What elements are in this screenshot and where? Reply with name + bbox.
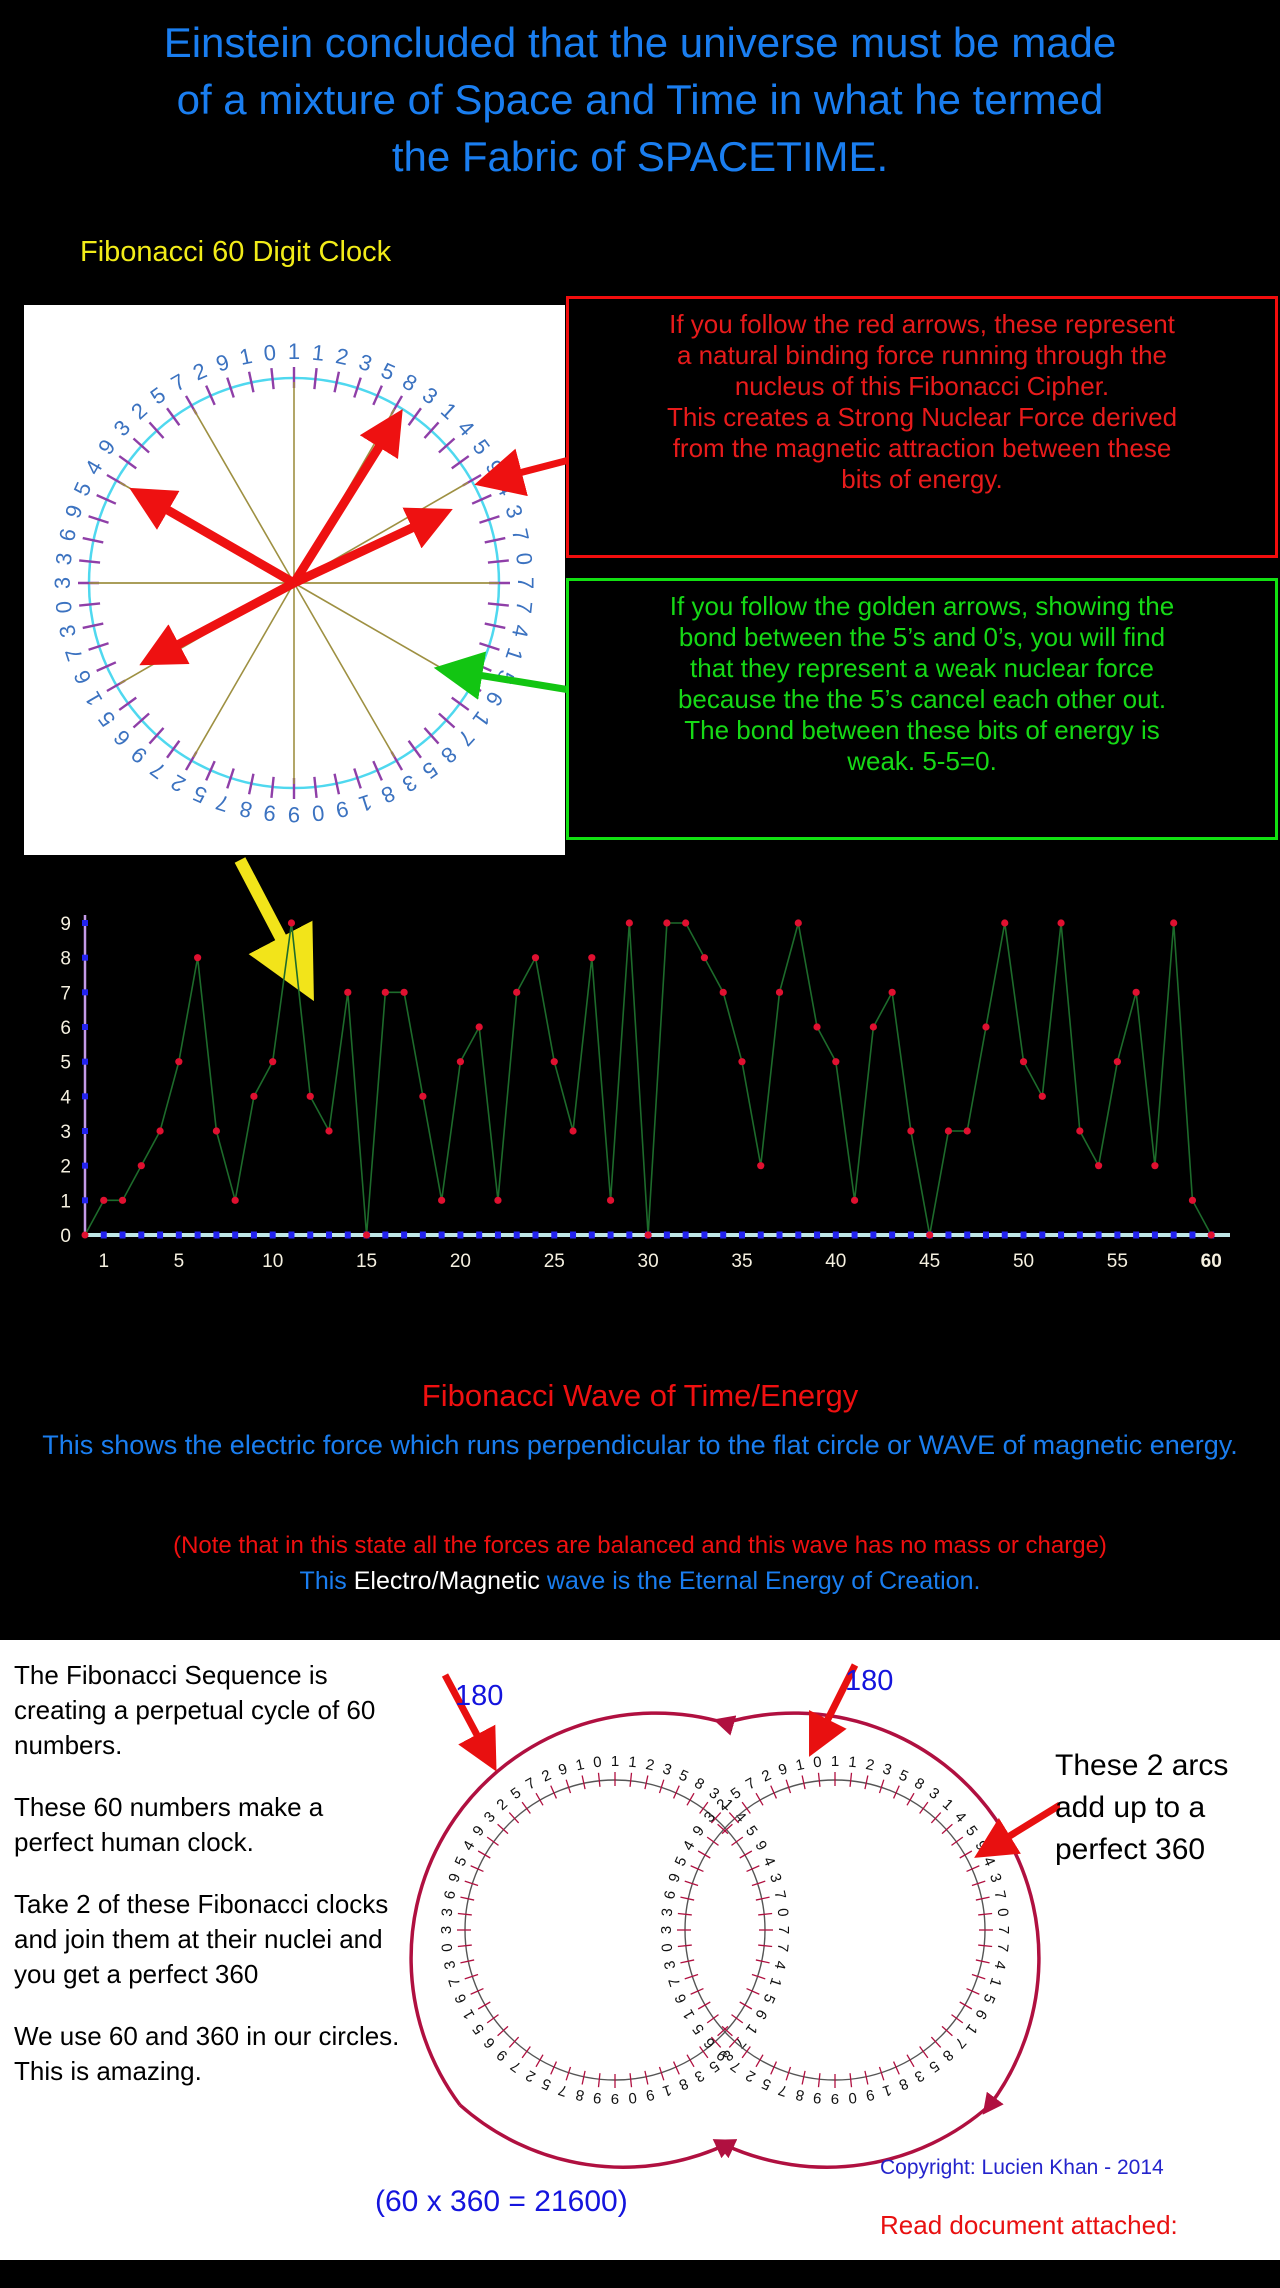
svg-text:0: 0 bbox=[628, 2089, 638, 2107]
svg-text:3: 3 bbox=[660, 1760, 673, 1779]
label-180-right: 180 bbox=[845, 1665, 893, 1698]
wave-line bbox=[104, 923, 1211, 1235]
baseline-marker bbox=[345, 1232, 351, 1239]
y-tick-label: 2 bbox=[60, 1157, 71, 1178]
x-tick-label: 15 bbox=[356, 1251, 377, 1272]
data-point bbox=[419, 1093, 426, 1100]
chart-caption-title: Fibonacci Wave of Time/Energy bbox=[0, 1378, 1280, 1414]
page-title-line-1: Einstein concluded that the universe mus… bbox=[0, 14, 1280, 71]
svg-text:6: 6 bbox=[672, 1991, 691, 2006]
baseline-marker bbox=[495, 1232, 501, 1239]
clock-digit: 9 bbox=[93, 435, 120, 460]
svg-text:4: 4 bbox=[991, 1959, 1009, 1971]
clock-digit: 4 bbox=[492, 478, 520, 499]
data-point bbox=[720, 989, 727, 996]
data-point bbox=[1133, 989, 1140, 996]
clock-digit: 2 bbox=[126, 398, 152, 425]
clock-digit: 4 bbox=[507, 623, 534, 640]
red-callout-box: If you follow the red arrows, these repr… bbox=[566, 296, 1278, 558]
svg-text:4: 4 bbox=[759, 1854, 778, 1869]
y-tick-label: 1 bbox=[60, 1191, 71, 1212]
clock-digit: 9 bbox=[60, 502, 88, 521]
baseline-marker bbox=[683, 1232, 689, 1239]
clock-digit: 3 bbox=[109, 415, 136, 441]
page-title: Einstein concluded that the universe mus… bbox=[0, 14, 1280, 185]
svg-text:1: 1 bbox=[628, 1754, 638, 1772]
svg-text:5: 5 bbox=[469, 2021, 488, 2038]
svg-text:6: 6 bbox=[751, 2006, 770, 2022]
svg-text:9: 9 bbox=[776, 1760, 789, 1779]
green-callout-line-2: bond between the 5’s and 0’s, you will f… bbox=[583, 622, 1261, 653]
clock-title: Fibonacci 60 Digit Clock bbox=[80, 236, 391, 269]
baseline-marker bbox=[138, 1232, 144, 1239]
baseline-marker bbox=[908, 1232, 914, 1239]
svg-text:8: 8 bbox=[574, 2086, 586, 2104]
baseline-marker bbox=[514, 1232, 520, 1239]
clock-digit: 1 bbox=[356, 789, 375, 817]
baseline-marker bbox=[1096, 1232, 1102, 1239]
svg-text:3: 3 bbox=[439, 1907, 457, 1917]
y-tick-label: 6 bbox=[60, 1018, 71, 1039]
clock-digit: 8 bbox=[436, 742, 462, 769]
svg-text:5: 5 bbox=[926, 2057, 943, 2076]
svg-text:9: 9 bbox=[556, 1760, 569, 1779]
svg-text:1: 1 bbox=[848, 1754, 858, 1772]
svg-text:7: 7 bbox=[665, 1975, 684, 1988]
baseline-marker bbox=[758, 1232, 764, 1239]
red-callout-line-4: This creates a Strong Nuclear Force deri… bbox=[583, 402, 1261, 433]
baseline-marker bbox=[1152, 1232, 1158, 1239]
clock-digit: 8 bbox=[237, 796, 254, 823]
clock-digit: 2 bbox=[334, 343, 351, 370]
clock-digit: 5 bbox=[377, 358, 398, 386]
baseline-marker bbox=[101, 1232, 107, 1239]
baseline-marker bbox=[270, 1232, 276, 1239]
baseline-marker bbox=[532, 1232, 538, 1239]
svg-text:9: 9 bbox=[611, 2090, 619, 2107]
svg-text:9: 9 bbox=[864, 2086, 876, 2104]
clock-digit: 9 bbox=[126, 742, 152, 769]
svg-text:9: 9 bbox=[831, 2090, 839, 2107]
clock-tick bbox=[271, 777, 273, 798]
y-tick bbox=[82, 1093, 88, 1099]
clock-tick bbox=[488, 603, 509, 605]
chart-caption-electro-magnetic: This Electro/Magnetic wave is the Eterna… bbox=[20, 1565, 1260, 1597]
clock-digit: 9 bbox=[262, 800, 277, 826]
svg-text:0: 0 bbox=[774, 1907, 792, 1917]
clock-digit: 4 bbox=[453, 415, 480, 441]
red-callout-line-3: nucleus of this Fibonacci Cipher. bbox=[583, 371, 1261, 402]
left-arc-180 bbox=[411, 1713, 725, 2105]
data-point bbox=[889, 989, 896, 996]
clock-digit: 4 bbox=[80, 456, 108, 479]
svg-text:9: 9 bbox=[592, 2089, 602, 2107]
y-tick-label: 0 bbox=[60, 1226, 71, 1247]
green-callout-line-5: The bond between these bits of energy is bbox=[583, 715, 1261, 746]
clock-digit: 0 bbox=[262, 340, 277, 366]
chart-caption-red-note: (Note that in this state all the forces … bbox=[20, 1530, 1260, 1562]
clock-tick bbox=[119, 698, 136, 710]
clock-digit: 1 bbox=[468, 707, 495, 732]
baseline-marker bbox=[664, 1232, 670, 1239]
clock-digit: 1 bbox=[500, 645, 528, 664]
svg-text:5: 5 bbox=[672, 1854, 691, 1869]
svg-text:2: 2 bbox=[523, 2066, 539, 2085]
fibonacci-wave-chart: 0123456789151015202530354045505560 bbox=[40, 905, 1240, 1305]
data-point bbox=[907, 1127, 914, 1134]
baseline-marker bbox=[1002, 1232, 1008, 1239]
clock-tick bbox=[167, 408, 179, 425]
svg-text:9: 9 bbox=[469, 1823, 488, 1840]
clock-digit: 8 bbox=[398, 369, 421, 397]
data-point bbox=[269, 1058, 276, 1065]
clock-digit: 1 bbox=[237, 343, 254, 370]
baseline-marker bbox=[251, 1232, 257, 1239]
svg-text:3: 3 bbox=[911, 2066, 927, 2085]
x-tick-label: 50 bbox=[1013, 1251, 1034, 1272]
svg-text:1: 1 bbox=[880, 2081, 893, 2100]
clock-digit: 2 bbox=[189, 358, 210, 386]
svg-text:0: 0 bbox=[439, 1943, 457, 1953]
data-point bbox=[344, 989, 351, 996]
data-point bbox=[964, 1127, 971, 1134]
svg-text:9: 9 bbox=[812, 2089, 822, 2107]
clock-digit: 9 bbox=[288, 802, 300, 827]
svg-text:2: 2 bbox=[644, 1756, 656, 1774]
clock-digit: 5 bbox=[146, 382, 171, 409]
svg-text:3: 3 bbox=[481, 1808, 499, 1826]
baseline-marker bbox=[1114, 1232, 1120, 1239]
clock-digit: 7 bbox=[167, 369, 190, 397]
y-tick-label: 5 bbox=[60, 1053, 71, 1074]
green-callout-line-4: because the the 5’s cancel each other ou… bbox=[583, 684, 1261, 715]
data-point bbox=[213, 1127, 220, 1134]
baseline-marker bbox=[176, 1232, 182, 1239]
baseline-marker bbox=[1171, 1232, 1177, 1239]
svg-text:8: 8 bbox=[939, 2046, 957, 2064]
clock-digit: 1 bbox=[288, 339, 300, 364]
svg-text:8: 8 bbox=[896, 2074, 911, 2093]
clock-tick bbox=[79, 560, 100, 562]
fibonacci-clock-panel: 1123583145943707741561785381909987527965… bbox=[24, 305, 565, 855]
bottom-paragraph-1: The Fibonacci Sequence is creating a per… bbox=[14, 1658, 404, 1763]
clock-digit: 6 bbox=[481, 687, 509, 710]
svg-text:4: 4 bbox=[771, 1959, 789, 1971]
green-callout-line-3: that they represent a weak nuclear force bbox=[583, 653, 1261, 684]
baseline-marker bbox=[551, 1232, 557, 1239]
svg-text:9: 9 bbox=[493, 2046, 511, 2064]
data-point bbox=[1114, 1058, 1121, 1065]
svg-text:9: 9 bbox=[445, 1871, 464, 1884]
svg-text:8: 8 bbox=[794, 2086, 806, 2104]
svg-text:4: 4 bbox=[979, 1854, 998, 1869]
svg-text:5: 5 bbox=[896, 1767, 911, 1786]
clock-digit: 7 bbox=[453, 725, 480, 751]
baseline-marker bbox=[195, 1232, 201, 1239]
svg-text:7: 7 bbox=[771, 1889, 789, 1901]
baseline-marker bbox=[157, 1232, 163, 1239]
chart-caption-blue: This shows the electric force which runs… bbox=[30, 1428, 1250, 1462]
clock-digit: 3 bbox=[398, 770, 421, 798]
clock-digit: 3 bbox=[418, 382, 443, 409]
bottom-paragraph-2: These 60 numbers make a perfect human cl… bbox=[14, 1790, 404, 1860]
svg-text:9: 9 bbox=[665, 1871, 684, 1884]
data-point bbox=[232, 1197, 239, 1204]
svg-text:6: 6 bbox=[661, 1889, 679, 1901]
data-point bbox=[457, 1058, 464, 1065]
read-document-text: Read document attached: bbox=[880, 2210, 1178, 2241]
data-point bbox=[795, 919, 802, 926]
svg-text:3: 3 bbox=[661, 1959, 679, 1971]
svg-text:7: 7 bbox=[775, 1926, 792, 1934]
bottom-paragraph-4: We use 60 and 360 in our circles. This i… bbox=[14, 2019, 404, 2089]
twin-clock: 1123583145943707741561785381909987527965… bbox=[658, 1753, 1012, 2107]
svg-text:3: 3 bbox=[659, 1907, 677, 1917]
svg-text:5: 5 bbox=[962, 1823, 981, 1840]
label-180-left: 180 bbox=[455, 1680, 503, 1713]
clock-digit: 3 bbox=[54, 623, 81, 640]
svg-text:3: 3 bbox=[438, 1926, 455, 1934]
caption-prefix: This bbox=[300, 1567, 354, 1595]
data-point bbox=[194, 954, 201, 961]
clock-digit: 5 bbox=[492, 666, 520, 687]
data-point bbox=[588, 954, 595, 961]
svg-text:6: 6 bbox=[452, 1991, 471, 2006]
svg-text:3: 3 bbox=[441, 1959, 459, 1971]
data-point bbox=[982, 1023, 989, 1030]
clock-digit: 9 bbox=[213, 349, 232, 377]
clock-digit: 7 bbox=[213, 789, 232, 817]
red-callout-line-5: from the magnetic attraction between the… bbox=[583, 433, 1261, 464]
clock-digit: 7 bbox=[146, 757, 171, 784]
data-point bbox=[325, 1127, 332, 1134]
baseline-marker bbox=[1189, 1232, 1195, 1239]
clock-digit: 9 bbox=[334, 796, 351, 823]
clock-digit: 5 bbox=[189, 781, 210, 809]
clock-digit: 7 bbox=[60, 645, 88, 664]
y-tick bbox=[82, 1197, 88, 1203]
equation-60x360: (60 x 360 = 21600) bbox=[375, 2185, 628, 2219]
baseline-marker bbox=[1021, 1232, 1027, 1239]
svg-text:9: 9 bbox=[644, 2086, 656, 2104]
svg-text:8: 8 bbox=[676, 2074, 691, 2093]
x-tick-label: 55 bbox=[1107, 1251, 1128, 1272]
baseline-marker bbox=[889, 1232, 895, 1239]
svg-text:2: 2 bbox=[743, 2066, 759, 2085]
caption-suffix: wave is the Eternal Energy of Creation. bbox=[540, 1567, 981, 1595]
svg-text:5: 5 bbox=[759, 2074, 774, 2093]
y-tick-label: 3 bbox=[60, 1122, 71, 1143]
svg-text:3: 3 bbox=[766, 1871, 785, 1884]
data-point bbox=[363, 1231, 370, 1238]
clock-digit: 7 bbox=[513, 577, 538, 589]
clock-digit: 7 bbox=[507, 526, 534, 543]
svg-text:9: 9 bbox=[751, 1838, 770, 1854]
y-tick-label: 4 bbox=[60, 1087, 71, 1108]
bottom-paragraph-3: Take 2 of these Fibonacci clocks and joi… bbox=[14, 1887, 404, 1992]
svg-text:3: 3 bbox=[880, 1760, 893, 1779]
svg-text:1: 1 bbox=[660, 2081, 673, 2100]
data-point bbox=[569, 1127, 576, 1134]
svg-text:7: 7 bbox=[991, 1889, 1009, 1901]
two-arcs-note: These 2 arcs add up to a perfect 360 bbox=[1055, 1745, 1280, 1871]
data-point bbox=[532, 954, 539, 961]
data-point bbox=[494, 1197, 501, 1204]
svg-text:6: 6 bbox=[481, 2034, 499, 2052]
baseline-marker bbox=[945, 1232, 951, 1239]
baseline-marker bbox=[870, 1232, 876, 1239]
svg-text:6: 6 bbox=[971, 2006, 990, 2022]
clock-digit: 3 bbox=[51, 551, 77, 566]
baseline-marker bbox=[401, 1232, 407, 1239]
svg-text:7: 7 bbox=[508, 2057, 525, 2076]
clock-digit: 6 bbox=[109, 725, 136, 751]
svg-text:7: 7 bbox=[556, 2081, 569, 2100]
svg-text:1: 1 bbox=[939, 1796, 957, 1814]
clock-digit: 8 bbox=[377, 781, 398, 809]
data-point bbox=[382, 989, 389, 996]
y-tick-label: 7 bbox=[60, 983, 71, 1004]
svg-text:1: 1 bbox=[742, 2021, 761, 2038]
svg-text:7: 7 bbox=[776, 2081, 789, 2100]
y-tick bbox=[82, 1059, 88, 1065]
svg-text:5: 5 bbox=[508, 1784, 525, 1803]
x-tick-label: 60 bbox=[1201, 1251, 1222, 1272]
clock-tick bbox=[314, 368, 316, 389]
golden-bond-line bbox=[294, 583, 468, 684]
data-point bbox=[288, 919, 295, 926]
svg-text:1: 1 bbox=[611, 1753, 619, 1770]
clock-tick bbox=[167, 741, 179, 758]
data-point bbox=[1076, 1127, 1083, 1134]
data-point bbox=[607, 1197, 614, 1204]
green-callout-line-6: weak. 5-5=0. bbox=[583, 746, 1261, 777]
data-point bbox=[1208, 1231, 1215, 1238]
svg-text:5: 5 bbox=[742, 1823, 761, 1840]
bottom-explanatory-text: The Fibonacci Sequence is creating a per… bbox=[14, 1658, 404, 2116]
svg-text:1: 1 bbox=[962, 2021, 981, 2038]
baseline-marker bbox=[626, 1232, 632, 1239]
data-point bbox=[1001, 919, 1008, 926]
svg-text:1: 1 bbox=[680, 2006, 699, 2022]
fibonacci-clock-diagram: 1123583145943707741561785381909987527965… bbox=[24, 305, 565, 855]
svg-text:0: 0 bbox=[592, 1754, 602, 1772]
svg-text:1: 1 bbox=[831, 1753, 839, 1770]
data-point bbox=[138, 1162, 145, 1169]
baseline-marker bbox=[120, 1232, 126, 1239]
x-tick-label: 35 bbox=[731, 1251, 752, 1272]
svg-text:2: 2 bbox=[864, 1756, 876, 1774]
clock-tick bbox=[409, 741, 421, 758]
baseline-marker bbox=[983, 1232, 989, 1239]
red-callout-line-1: If you follow the red arrows, these repr… bbox=[583, 309, 1261, 340]
data-point bbox=[175, 1058, 182, 1065]
clock-tick bbox=[119, 456, 136, 468]
svg-text:7: 7 bbox=[743, 1775, 759, 1794]
data-point bbox=[813, 1023, 820, 1030]
data-point bbox=[1189, 1197, 1196, 1204]
svg-text:0: 0 bbox=[659, 1943, 677, 1953]
baseline-marker bbox=[852, 1232, 858, 1239]
left-arc-bottom bbox=[460, 2105, 725, 2167]
data-point bbox=[757, 1162, 764, 1169]
data-point bbox=[1095, 1162, 1102, 1169]
svg-text:2: 2 bbox=[493, 1796, 511, 1814]
data-point bbox=[945, 1127, 952, 1134]
data-point bbox=[663, 919, 670, 926]
svg-text:7: 7 bbox=[445, 1975, 464, 1988]
svg-text:1: 1 bbox=[986, 1975, 1005, 1988]
svg-text:9: 9 bbox=[971, 1838, 990, 1854]
x-tick-label: 1 bbox=[98, 1251, 109, 1272]
baseline-marker bbox=[307, 1232, 313, 1239]
baseline-marker bbox=[720, 1232, 726, 1239]
baseline-marker bbox=[326, 1232, 332, 1239]
data-point bbox=[1057, 919, 1064, 926]
svg-text:0: 0 bbox=[848, 2089, 858, 2107]
baseline-marker bbox=[1077, 1232, 1083, 1239]
x-tick-label: 10 bbox=[262, 1251, 283, 1272]
data-point bbox=[400, 989, 407, 996]
page-title-line-3: the Fabric of SPACETIME. bbox=[0, 128, 1280, 185]
svg-text:5: 5 bbox=[676, 1767, 691, 1786]
x-tick-label: 45 bbox=[919, 1251, 940, 1272]
svg-text:7: 7 bbox=[523, 1775, 539, 1794]
baseline-marker bbox=[439, 1232, 445, 1239]
y-tick bbox=[82, 1024, 88, 1030]
clock-digit: 7 bbox=[511, 600, 537, 615]
data-point bbox=[551, 1058, 558, 1065]
svg-text:9: 9 bbox=[689, 1823, 708, 1840]
y-tick bbox=[82, 955, 88, 961]
baseline-marker bbox=[232, 1232, 238, 1239]
baseline-marker bbox=[288, 1232, 294, 1239]
caption-highlight: Electro/Magnetic bbox=[354, 1567, 540, 1595]
baseline-marker bbox=[608, 1232, 614, 1239]
data-point bbox=[832, 1058, 839, 1065]
clock-digit: 1 bbox=[80, 687, 108, 710]
data-point bbox=[926, 1231, 933, 1238]
data-point bbox=[476, 1023, 483, 1030]
baseline-marker bbox=[213, 1232, 219, 1239]
pointer-arrow-far-right bbox=[995, 1805, 1060, 1845]
svg-text:5: 5 bbox=[452, 1854, 471, 1869]
clock-digit: 1 bbox=[311, 340, 326, 366]
baseline-marker bbox=[1039, 1232, 1045, 1239]
baseline-marker bbox=[795, 1232, 801, 1239]
y-tick-label: 9 bbox=[60, 914, 71, 935]
svg-text:4: 4 bbox=[680, 1838, 699, 1854]
clock-digit: 1 bbox=[436, 398, 462, 425]
x-tick-label: 40 bbox=[825, 1251, 846, 1272]
svg-text:1: 1 bbox=[460, 2006, 479, 2022]
baseline-marker bbox=[964, 1232, 970, 1239]
data-point bbox=[1020, 1058, 1027, 1065]
clock-digit: 3 bbox=[356, 349, 375, 377]
svg-text:1: 1 bbox=[574, 1756, 586, 1774]
clock-digit: 5 bbox=[468, 435, 495, 460]
svg-text:5: 5 bbox=[979, 1991, 998, 2006]
clock-digit: 0 bbox=[51, 600, 77, 615]
baseline-marker bbox=[777, 1232, 783, 1239]
clock-digit: 3 bbox=[500, 502, 528, 521]
svg-text:4: 4 bbox=[951, 1808, 969, 1826]
green-callout-line-1: If you follow the golden arrows, showing… bbox=[583, 591, 1261, 622]
svg-text:3: 3 bbox=[658, 1926, 675, 1934]
svg-text:0: 0 bbox=[994, 1907, 1012, 1917]
data-point bbox=[682, 919, 689, 926]
baseline-marker bbox=[420, 1232, 426, 1239]
